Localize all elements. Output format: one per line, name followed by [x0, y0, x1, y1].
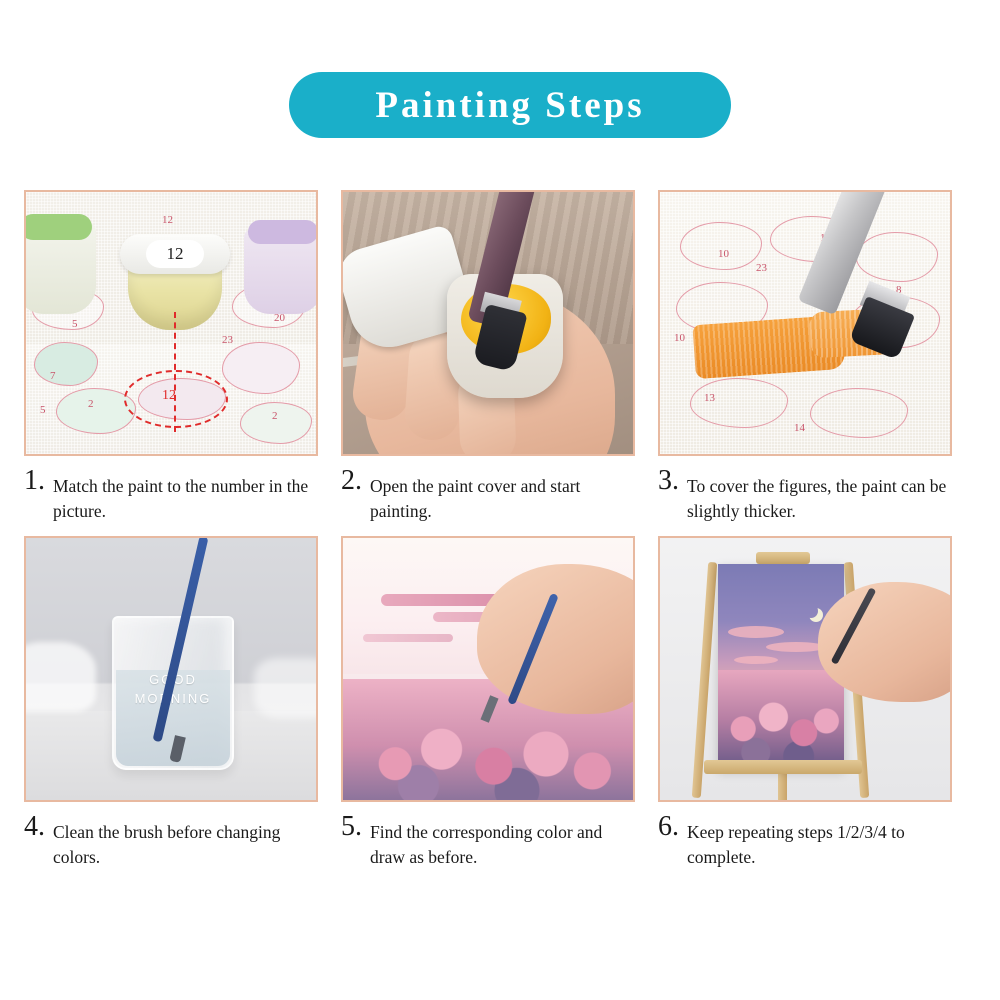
pot-number-label: 12	[146, 240, 204, 268]
page-title: Painting Steps	[375, 84, 644, 127]
step-card-6: 6. Keep repeating steps 1/2/3/4 to compl…	[658, 536, 975, 870]
painted-cloud-band	[363, 634, 453, 642]
step-1-photo: 12 24 12 5 25 20 23 7 2 5 2 12	[24, 190, 318, 456]
steps-grid: 12 24 12 5 25 20 23 7 2 5 2 12	[24, 190, 976, 882]
purple-paint-pot	[244, 228, 318, 314]
step-1-text: Match the paint to the number in the pic…	[53, 470, 318, 524]
step-card-1: 12 24 12 5 25 20 23 7 2 5 2 12	[24, 190, 341, 524]
canvas-region	[856, 232, 938, 282]
canvas-number: 7	[50, 370, 56, 382]
step-3-photo: 18 10 23 9 8 10 20 13 14	[658, 190, 952, 456]
background-object	[254, 658, 318, 718]
step-2-number: 2.	[341, 470, 362, 492]
step-card-5: 5. Find the corresponding color and draw…	[341, 536, 658, 870]
step-1-number: 1.	[24, 470, 45, 492]
step-4-number: 4.	[24, 816, 45, 838]
step-2-caption: 2. Open the paint cover and start painti…	[341, 470, 635, 524]
pot-cap	[24, 214, 92, 240]
canvas-number: 23	[756, 262, 767, 274]
easel-tray	[704, 760, 862, 774]
step-card-4: GOOD MORNING 4. Clean the brush before c…	[24, 536, 341, 870]
canvas-number: 14	[794, 422, 805, 434]
moon	[804, 604, 818, 618]
step-6-number: 6.	[658, 816, 679, 838]
pot-cap	[248, 220, 318, 244]
canvas-region	[680, 222, 762, 270]
step-4-photo: GOOD MORNING	[24, 536, 318, 802]
step-5-text: Find the corresponding color and draw as…	[370, 816, 635, 870]
green-paint-pot	[24, 222, 96, 314]
step-6-photo	[658, 536, 952, 802]
cloud	[766, 642, 826, 652]
canvas-number: 23	[222, 334, 233, 346]
highlighted-canvas-number: 12	[162, 388, 176, 404]
step-5-number: 5.	[341, 816, 362, 838]
painting-steps-infographic: Painting Steps 12 24 12 5 25	[0, 0, 1000, 1000]
step-5-caption: 5. Find the corresponding color and draw…	[341, 816, 635, 870]
painted-flowers	[718, 670, 844, 768]
step-1-caption: 1. Match the paint to the number in the …	[24, 470, 318, 524]
canvas-number: 12	[162, 214, 173, 226]
canvas-number: 10	[718, 248, 729, 260]
canvas-number: 13	[704, 392, 715, 404]
step-6-text: Keep repeating steps 1/2/3/4 to complete…	[687, 816, 952, 870]
easel-top-bar	[756, 552, 810, 564]
title-banner: Painting Steps	[289, 72, 731, 138]
step-3-caption: 3. To cover the figures, the paint can b…	[658, 470, 952, 524]
canvas-region	[240, 402, 312, 444]
glass-text-line-2: MORNING	[114, 689, 232, 708]
canvas-region	[222, 342, 300, 394]
step-3-number: 3.	[658, 470, 679, 492]
canvas-region	[810, 388, 908, 438]
canvas-number: 10	[674, 332, 685, 344]
canvas-number: 5	[72, 318, 78, 330]
canvas-number: 2	[88, 398, 94, 410]
canvas-number: 2	[272, 410, 278, 422]
step-3-text: To cover the figures, the paint can be s…	[687, 470, 952, 524]
step-2-photo	[341, 190, 635, 456]
step-5-photo	[341, 536, 635, 802]
cloud	[728, 626, 784, 638]
cloud	[734, 656, 778, 664]
step-card-3: 18 10 23 9 8 10 20 13 14 3. To cover the…	[658, 190, 975, 524]
hand	[818, 582, 952, 702]
canvas-number: 5	[40, 404, 46, 416]
background-object	[24, 642, 96, 712]
step-2-text: Open the paint cover and start painting.	[370, 470, 635, 524]
step-4-caption: 4. Clean the brush before changing color…	[24, 816, 318, 870]
hand	[477, 564, 635, 714]
step-card-2: 2. Open the paint cover and start painti…	[341, 190, 658, 524]
dashed-highlight-circle	[124, 370, 228, 428]
canvas-region	[34, 342, 98, 386]
step-6-caption: 6. Keep repeating steps 1/2/3/4 to compl…	[658, 816, 952, 870]
step-4-text: Clean the brush before changing colors.	[53, 816, 318, 870]
